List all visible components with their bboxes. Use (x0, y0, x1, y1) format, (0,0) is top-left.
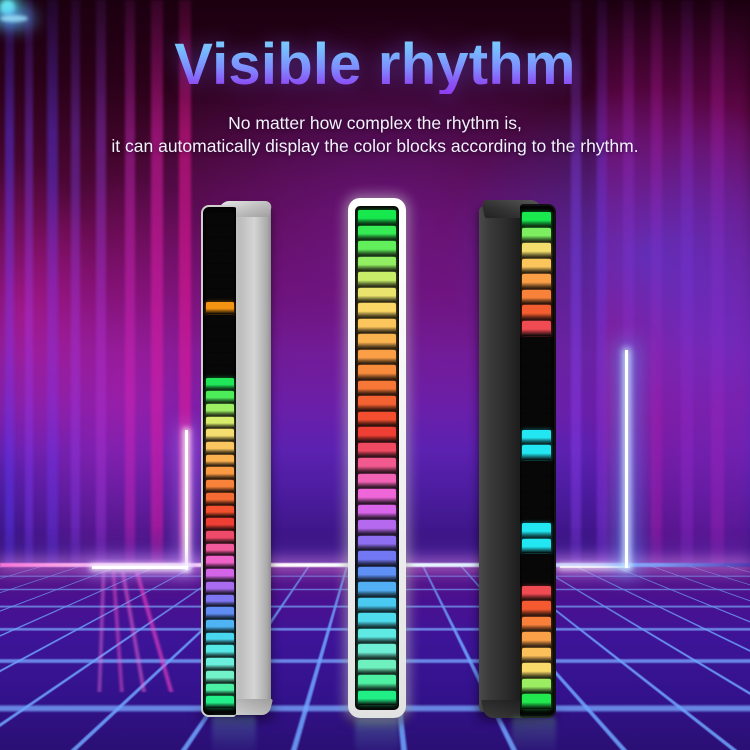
led-block-lit (358, 241, 396, 256)
led-block-lit (522, 228, 551, 243)
subtitle-line-1: No matter how complex the rhythm is, (0, 112, 750, 135)
neon-line-left-horizontal (92, 566, 188, 569)
led-block-lit (522, 586, 551, 601)
led-block-lit (206, 429, 234, 441)
led-strip-black (522, 212, 551, 710)
led-block-lit (522, 274, 551, 289)
floor-reflection-left (212, 716, 256, 750)
led-block-off (206, 289, 234, 301)
product-marketing-banner: Visible rhythm No matter how complex the… (0, 0, 750, 750)
led-block-lit (358, 644, 396, 659)
led-block-off (206, 238, 234, 250)
led-block-lit (358, 536, 396, 551)
led-block-lit (206, 531, 234, 543)
led-block-lit (206, 302, 234, 314)
led-block-lit (358, 319, 396, 334)
led-block-lit (522, 648, 551, 663)
led-block-lit (206, 442, 234, 454)
led-block-lit (358, 381, 396, 396)
led-block-lit (358, 691, 396, 706)
led-rhythm-bar-white[interactable] (348, 198, 406, 718)
led-block-off (522, 492, 551, 507)
led-block-lit (358, 412, 396, 427)
led-block-lit (206, 455, 234, 467)
led-block-lit (522, 212, 551, 227)
led-block-lit (358, 660, 396, 675)
background-right-wall (600, 0, 750, 640)
led-block-lit (522, 617, 551, 632)
led-block-lit (206, 620, 234, 632)
neon-line-left-vertical (185, 430, 188, 570)
led-block-lit (522, 243, 551, 258)
led-block-lit (522, 523, 551, 538)
led-rhythm-bar-black[interactable] (479, 200, 555, 718)
led-block-lit (358, 427, 396, 442)
led-block-lit (358, 396, 396, 411)
led-block-lit (206, 544, 234, 556)
led-block-lit (206, 378, 234, 390)
led-strip-white (358, 210, 396, 706)
led-block-lit (206, 391, 234, 403)
led-block-off (522, 570, 551, 585)
led-block-lit (522, 259, 551, 274)
led-block-lit (358, 272, 396, 287)
led-block-lit (206, 645, 234, 657)
neon-glow-blue-foot (0, 15, 28, 22)
led-block-lit (358, 257, 396, 272)
led-block-lit (358, 567, 396, 582)
led-block-lit (358, 582, 396, 597)
page-title: Visible rhythm (0, 36, 750, 94)
neon-line-right-horizontal (560, 566, 630, 568)
neon-glow-cyan-top (0, 0, 15, 15)
led-block-off (206, 340, 234, 352)
led-block-lit (522, 321, 551, 336)
led-block-off (522, 368, 551, 383)
led-block-off (206, 277, 234, 289)
led-block-lit (206, 607, 234, 619)
led-block-lit (206, 633, 234, 645)
bar-led-face-silver (201, 205, 236, 717)
led-block-off (206, 366, 234, 378)
led-block-lit (522, 539, 551, 554)
led-block-lit (358, 598, 396, 613)
led-block-lit (206, 569, 234, 581)
led-block-lit (522, 663, 551, 678)
led-block-lit (358, 334, 396, 349)
led-block-lit (522, 679, 551, 694)
led-block-lit (206, 658, 234, 670)
led-block-off (522, 383, 551, 398)
led-block-lit (522, 601, 551, 616)
led-block-lit (358, 520, 396, 535)
led-block-lit (358, 629, 396, 644)
led-block-lit (358, 474, 396, 489)
led-block-off (206, 264, 234, 276)
led-block-off (206, 226, 234, 238)
led-block-lit (206, 506, 234, 518)
led-block-off (206, 315, 234, 327)
floor-laser-fan (0, 572, 330, 692)
bar-led-face-black (520, 204, 556, 718)
led-block-lit (358, 505, 396, 520)
led-block-lit (358, 226, 396, 241)
led-block-lit (522, 290, 551, 305)
led-block-lit (206, 404, 234, 416)
neon-line-right-vertical (625, 350, 628, 568)
led-block-off (522, 554, 551, 569)
subtitle-line-2: it can automatically display the color b… (0, 135, 750, 158)
led-block-lit (358, 551, 396, 566)
led-block-lit (522, 445, 551, 460)
led-block-lit (206, 467, 234, 479)
led-block-off (522, 414, 551, 429)
led-block-lit (358, 443, 396, 458)
led-block-lit (358, 489, 396, 504)
led-block-lit (206, 480, 234, 492)
led-block-lit (206, 417, 234, 429)
led-block-lit (206, 493, 234, 505)
led-block-off (522, 352, 551, 367)
led-block-lit (358, 675, 396, 690)
led-block-lit (206, 696, 234, 708)
floor-reflection-center (355, 719, 399, 750)
led-block-off (522, 477, 551, 492)
floor-reflection-right (512, 717, 556, 750)
led-block-off (522, 461, 551, 476)
led-block-lit (522, 694, 551, 709)
led-block-off (206, 251, 234, 263)
bar-led-face-white (355, 206, 399, 710)
led-block-lit (358, 288, 396, 303)
led-block-lit (358, 210, 396, 225)
led-block-lit (206, 671, 234, 683)
led-block-lit (522, 305, 551, 320)
led-strip-silver (206, 213, 234, 709)
led-block-off (206, 327, 234, 339)
led-block-off (522, 508, 551, 523)
led-block-lit (206, 684, 234, 696)
led-block-lit (206, 582, 234, 594)
led-block-off (522, 399, 551, 414)
led-block-off (206, 353, 234, 365)
led-rhythm-bar-silver[interactable] (199, 201, 271, 717)
led-block-lit (522, 430, 551, 445)
page-subtitle: No matter how complex the rhythm is, it … (0, 112, 750, 158)
led-block-lit (358, 365, 396, 380)
led-block-lit (358, 350, 396, 365)
led-block-lit (522, 632, 551, 647)
led-block-off (522, 337, 551, 352)
led-block-lit (206, 518, 234, 530)
led-block-lit (206, 595, 234, 607)
led-block-lit (358, 613, 396, 628)
led-block-lit (358, 303, 396, 318)
led-block-off (206, 213, 234, 225)
led-block-lit (358, 458, 396, 473)
led-block-lit (206, 556, 234, 568)
